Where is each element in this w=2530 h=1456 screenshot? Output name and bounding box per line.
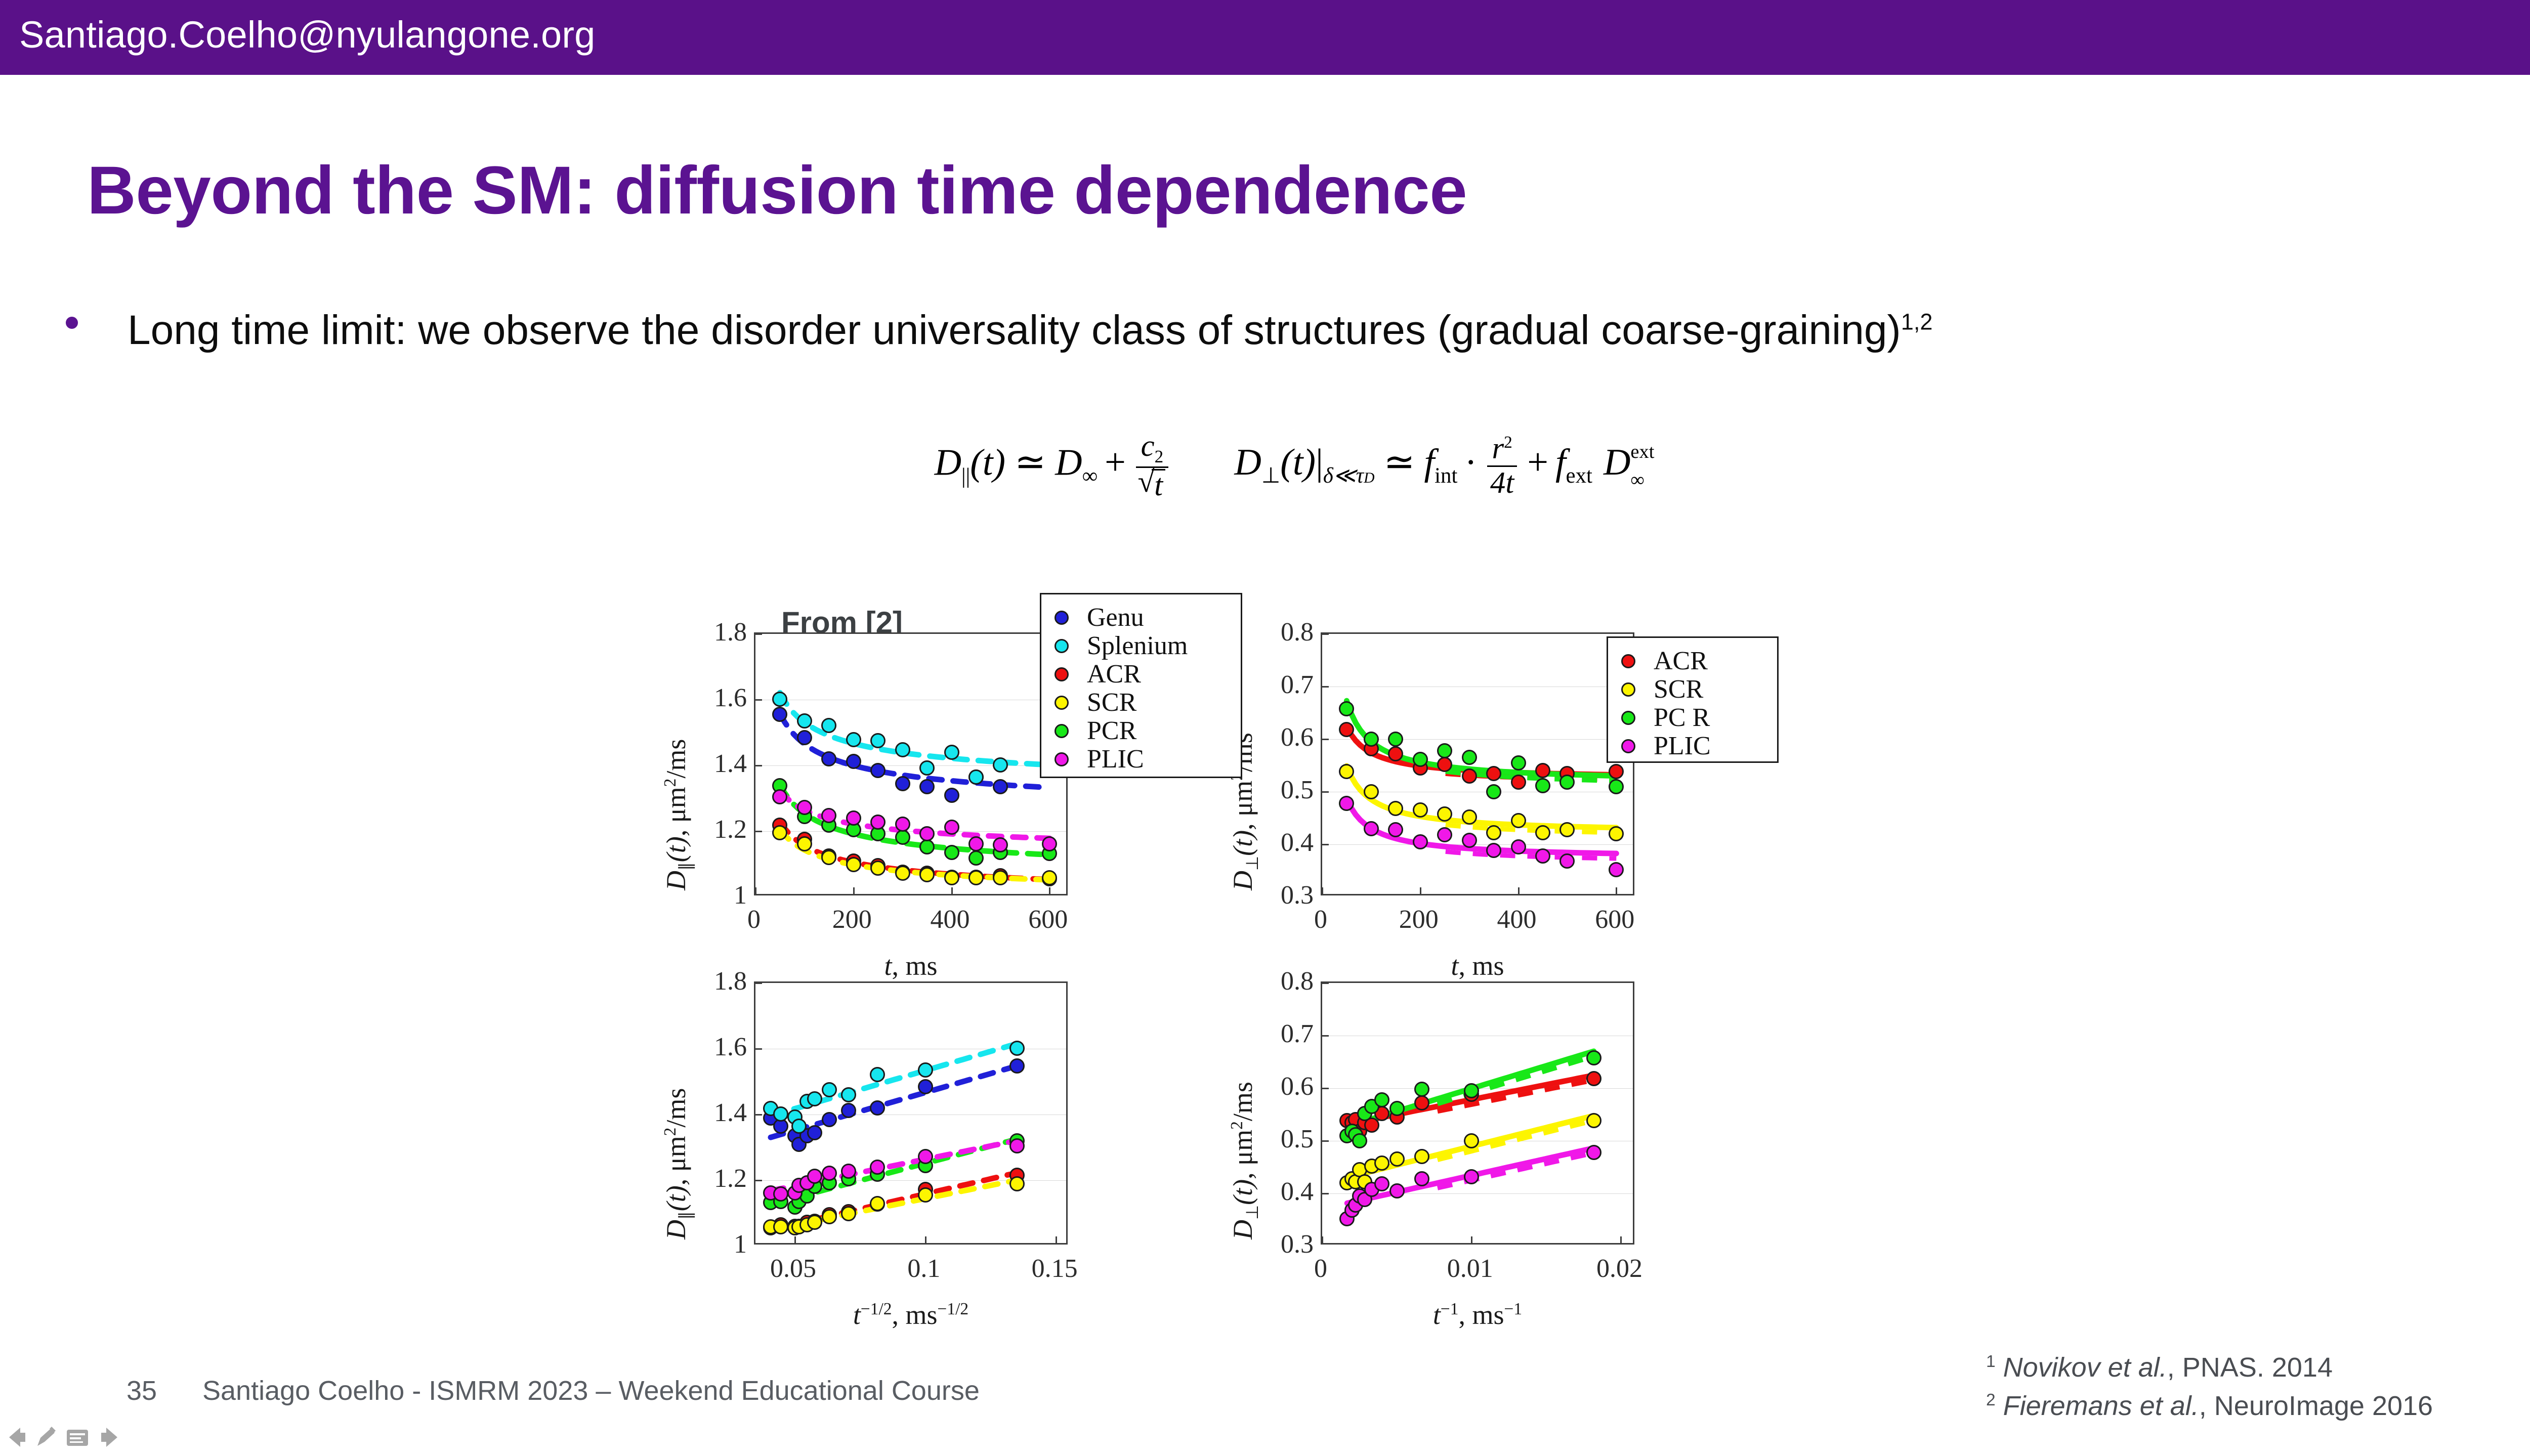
fit-line-pcr [780, 785, 1049, 855]
chart-panel-top-right: 0.30.40.50.60.70.80200400600t, msD⊥(t), … [1321, 632, 1766, 1027]
y-axis-tick-label: 1.6 [678, 683, 747, 713]
next-slide-arrow-icon [101, 1428, 117, 1447]
data-point-splenium [1009, 1041, 1025, 1056]
footer-page-number: 35 [126, 1375, 157, 1406]
pen-tool-icon [37, 1427, 56, 1446]
data-point-genu [807, 1125, 822, 1140]
eq-perp-D: D [1234, 442, 1261, 483]
data-point-pcr [1374, 1092, 1389, 1107]
plot-area [1321, 632, 1634, 895]
plot-area [754, 981, 1068, 1245]
legend-label: ACR [1087, 659, 1141, 689]
eq-par-frac-den: t [1136, 466, 1168, 501]
legend-label: Splenium [1087, 631, 1188, 661]
x-axis-tick-label: 0 [698, 905, 810, 934]
data-point-genu [797, 730, 812, 745]
legend-label: SCR [1654, 674, 1703, 704]
eq-par-fraction: c2t [1136, 431, 1168, 501]
sqrt-icon: t [1139, 468, 1165, 502]
data-point-plic [1586, 1145, 1601, 1160]
eq-perp-Dext-sup: ext [1630, 442, 1654, 462]
data-point-plic [1464, 1169, 1479, 1184]
x-axis-tick-label: 0.1 [868, 1254, 980, 1283]
data-point-plic [968, 836, 984, 851]
x-axis-tick-label: 0 [1265, 1254, 1376, 1283]
data-point-scr [870, 861, 885, 876]
x-axis-tick-label: 200 [796, 905, 908, 934]
eq-perp-rel: ≃ [1375, 442, 1424, 483]
data-point-splenium [791, 1119, 807, 1134]
reference-item: 1 Novikov et al., PNAS. 2014 [1986, 1352, 2433, 1383]
legend-item: PCR [1041, 717, 1241, 745]
bullet-text-main: Long time limit: we observe the disorder… [128, 307, 1901, 353]
data-point-splenium [993, 757, 1008, 773]
data-point-genu [846, 754, 861, 769]
previous-slide-arrow-icon [9, 1428, 25, 1447]
x-axis-tick-label: 400 [1461, 905, 1573, 934]
data-point-plic [821, 808, 836, 823]
data-point-plic [1511, 839, 1526, 854]
eq-perp-Dext: D [1592, 442, 1630, 483]
y-axis-tick-label: 1.8 [678, 617, 747, 647]
data-point-acr [1462, 768, 1477, 784]
figure-grid: 11.21.41.61.80200400600t, msD∥(t), μm2/m… [724, 582, 1781, 1341]
eq-par-rel: ≃ [1005, 442, 1055, 483]
eq-perp-frac-den: 4t [1487, 465, 1517, 499]
data-point-pcr [895, 830, 910, 845]
data-point-plic [1609, 862, 1624, 877]
ref-authors-1: Novikov et al. [2003, 1352, 2167, 1383]
bullet-dot-icon [66, 317, 78, 329]
eq-par-arg: (t) [970, 442, 1005, 483]
data-point-genu [870, 763, 885, 778]
legend-swatch-splenium [1055, 639, 1069, 653]
data-point-scr [1364, 784, 1379, 799]
legend-swatch-plic [1055, 752, 1069, 766]
plot-area [754, 632, 1068, 895]
reference-list: 1 Novikov et al., PNAS. 2014 2 Fieremans… [1986, 1352, 2433, 1429]
legend-swatch-scr [1055, 696, 1069, 710]
legend-label: PC R [1654, 703, 1710, 733]
data-point-acr [1486, 766, 1501, 781]
data-point-plic [1364, 821, 1379, 836]
legend-swatch-pcr [1055, 724, 1069, 738]
eq-perp-Dext-scripts: ext∞ [1630, 442, 1654, 490]
legend-item: PLIC [1608, 732, 1777, 760]
data-point-pcr [1486, 784, 1501, 799]
ref-marker-1: 1 [1986, 1352, 1996, 1371]
legend-swatch-scr [1621, 682, 1635, 697]
data-point-splenium [821, 718, 836, 733]
y-axis-tick-label: 0.7 [1245, 670, 1314, 700]
x-axis-tick-label: 600 [1559, 905, 1670, 934]
data-point-splenium [895, 742, 910, 757]
chart-legend: ACRSCRPC RPLIC [1607, 636, 1779, 763]
chart-panel-bottom-left: 11.21.41.61.80.050.10.15t−1/2, ms−1/2D∥(… [754, 981, 1199, 1376]
data-point-scr [1389, 1151, 1405, 1167]
eq-par-sub: || [961, 464, 970, 488]
footer-text: Santiago Coelho - ISMRM 2023 – Weekend E… [202, 1375, 980, 1406]
data-point-scr [797, 836, 812, 851]
fit-line-dashed-acr [1438, 1080, 1594, 1111]
data-point-splenium [772, 692, 787, 707]
eq-par-D: D [935, 442, 961, 483]
data-point-scr [919, 867, 935, 882]
header-email-text: Santiago.Coelho@nyulangone.org [19, 13, 596, 56]
data-point-scr [944, 870, 959, 885]
x-axis-tick-label: 0.05 [738, 1254, 849, 1283]
x-axis-tick-label: 0.02 [1564, 1254, 1675, 1283]
x-axis-title: t, ms [754, 950, 1068, 981]
data-point-genu [1009, 1058, 1025, 1074]
legend-item: ACR [1608, 647, 1777, 675]
data-point-splenium [918, 1062, 933, 1078]
data-point-genu [870, 1100, 885, 1116]
data-point-scr [895, 866, 910, 881]
y-axis-tick-label: 0.8 [1245, 617, 1314, 647]
legend-item: SCR [1608, 675, 1777, 704]
data-point-acr [1511, 775, 1526, 790]
data-point-plic [1009, 1138, 1025, 1153]
data-point-plic [1389, 1183, 1405, 1198]
eq-perp-frac-num: r2 [1487, 434, 1517, 465]
data-point-pcr [1389, 1101, 1405, 1116]
y-axis-tick-label: 1.6 [678, 1032, 747, 1062]
eq-par-inf-sub: ∞ [1082, 464, 1098, 488]
eq-perp-cond-sub: D [1364, 470, 1374, 486]
legend-item: Splenium [1041, 632, 1241, 660]
data-point-scr [1486, 825, 1501, 840]
data-point-scr [870, 1196, 885, 1211]
equation-perpendicular: D⊥(t)|δ≪τD≃fint·r24t+fextDext∞ [1234, 434, 1654, 498]
eq-par-Dinf: D [1055, 442, 1082, 483]
x-axis-title: t, ms [1321, 950, 1634, 981]
data-point-scr [1437, 806, 1452, 822]
eq-perp-fext-sub: ext [1566, 464, 1592, 488]
eq-perp-Dext-sub: ∞ [1630, 470, 1654, 490]
data-point-splenium [797, 713, 812, 729]
fit-curves [755, 634, 1068, 895]
data-point-scr [1462, 809, 1477, 825]
legend-item: PC R [1608, 704, 1777, 732]
data-point-plic [870, 1160, 885, 1175]
legend-swatch-genu [1055, 611, 1069, 625]
legend-item: Genu [1041, 604, 1241, 632]
data-point-genu [944, 788, 959, 803]
legend-item: SCR [1041, 689, 1241, 717]
data-point-pcr [1511, 755, 1526, 770]
data-point-plic [1414, 1171, 1429, 1186]
data-point-scr [1535, 825, 1550, 840]
x-axis-tick-label: 0 [1265, 905, 1376, 934]
eq-perp-plus: + [1520, 442, 1555, 483]
eq-perp-bar: | [1316, 442, 1323, 483]
ref-authors-2: Fieremans et al. [2003, 1391, 2199, 1421]
data-point-pcr [1609, 779, 1624, 794]
y-axis-title: D∥(t), μm2/ms [660, 739, 696, 890]
data-point-acr [1437, 757, 1452, 772]
legend-swatch-acr [1621, 654, 1635, 668]
data-point-pcr [1352, 1133, 1367, 1148]
eq-perp-arg: (t) [1280, 442, 1316, 483]
data-point-plic [1462, 833, 1477, 848]
notes-panel-icon [67, 1430, 88, 1446]
data-point-scr [1511, 813, 1526, 828]
eq-par-c-sub: 2 [1155, 447, 1164, 466]
data-point-plic [1042, 836, 1057, 851]
data-point-pcr [1586, 1050, 1601, 1065]
legend-item: PLIC [1041, 745, 1241, 774]
fit-line-dashed-plic [1438, 1153, 1594, 1188]
ref-rest-1: , PNAS. 2014 [2167, 1352, 2333, 1383]
y-axis-tick-label: 0.8 [1245, 966, 1314, 996]
y-axis-title: D⊥(t), μm2/ms [1227, 1082, 1262, 1239]
eq-perp-fint: f [1424, 442, 1435, 483]
data-point-scr [1374, 1155, 1389, 1171]
x-axis-tick-label: 0.01 [1414, 1254, 1526, 1283]
y-axis-tick-label: 1.8 [678, 966, 747, 996]
ref-rest-2: , NeuroImage 2016 [2199, 1391, 2433, 1421]
data-point-pcr [1535, 778, 1550, 793]
data-point-plic [895, 817, 910, 832]
data-point-splenium [807, 1091, 822, 1106]
data-point-plic [870, 815, 885, 830]
x-axis-tick-label: 0.15 [999, 1254, 1110, 1283]
data-point-genu [918, 1079, 933, 1094]
data-point-splenium [968, 769, 984, 785]
eq-perp-fext: f [1555, 442, 1566, 483]
plot-area [1321, 981, 1634, 1245]
fit-line-pcr [1346, 701, 1616, 776]
data-point-plic [1413, 834, 1428, 849]
ref-marker-2: 2 [1986, 1391, 1996, 1409]
page-title: Beyond the SM: diffusion time dependence [87, 152, 1467, 229]
data-point-acr [1586, 1071, 1601, 1086]
eq-par-plus: + [1098, 442, 1133, 483]
data-point-splenium [870, 1067, 885, 1082]
data-point-splenium [846, 732, 861, 747]
eq-perp-r: r [1492, 432, 1504, 465]
fit-line-plic [780, 790, 1049, 838]
data-point-plic [944, 820, 959, 835]
bullet-text: Long time limit: we observe the disorder… [128, 303, 2202, 358]
x-axis-tick-label: 600 [992, 905, 1104, 934]
legend-label: SCR [1087, 688, 1136, 717]
chart-legend: GenuSpleniumACRSCRPCRPLIC [1040, 593, 1242, 778]
data-point-pcr [1414, 1082, 1429, 1097]
data-point-plic [772, 789, 787, 804]
equation-parallel: D||(t)≃D∞+c2t [935, 431, 1171, 501]
data-point-genu [822, 1112, 837, 1127]
data-point-splenium [944, 745, 959, 760]
eq-perp-dot: · [1457, 442, 1484, 483]
eq-perp-fint-sub: int [1435, 464, 1457, 488]
legend-swatch-plic [1621, 739, 1635, 753]
y-axis-tick-label: 0.7 [1245, 1019, 1314, 1049]
data-point-pcr [1462, 750, 1477, 765]
data-point-pcr [1339, 701, 1354, 716]
fit-curves [1322, 634, 1634, 895]
eq-par-t: t [1152, 469, 1165, 501]
data-point-plic [846, 810, 861, 826]
eq-par-frac-num: c2 [1136, 431, 1168, 466]
legend-label: PLIC [1087, 744, 1144, 774]
legend-item: ACR [1041, 660, 1241, 689]
chart-panel-top-left: 11.21.41.61.80200400600t, msD∥(t), μm2/m… [754, 632, 1199, 1027]
fit-line-genu [780, 713, 1049, 788]
data-point-genu [895, 776, 910, 791]
x-axis-title: t−1, ms−1 [1321, 1299, 1634, 1331]
eq-perp-fraction: r24t [1487, 434, 1517, 498]
legend-label: Genu [1087, 603, 1144, 632]
reference-item: 2 Fieremans et al., NeuroImage 2016 [1986, 1390, 2433, 1422]
data-point-acr [1414, 1095, 1429, 1110]
data-point-scr [918, 1187, 933, 1203]
data-point-plic [918, 1149, 933, 1164]
data-point-pcr [944, 845, 959, 860]
eq-perp-r-sup: 2 [1504, 433, 1512, 452]
data-point-pcr [1437, 743, 1452, 758]
data-point-plic [797, 800, 812, 815]
data-point-plic [1535, 848, 1550, 864]
legend-label: PLIC [1654, 731, 1711, 761]
data-point-splenium [773, 1106, 788, 1122]
eq-par-c: c [1141, 429, 1155, 463]
data-point-scr [822, 1209, 837, 1224]
data-point-pcr [1413, 752, 1428, 767]
data-point-scr [846, 857, 861, 872]
equation-row: D||(t)≃D∞+c2t D⊥(t)|δ≪τD≃fint·r24t+fextD… [0, 431, 2530, 501]
data-point-scr [1413, 802, 1428, 818]
legend-label: ACR [1654, 646, 1708, 676]
bullet-superscript: 1,2 [1901, 309, 1933, 335]
legend-swatch-acr [1055, 667, 1069, 681]
x-axis-tick-label: 200 [1363, 905, 1474, 934]
x-axis-title: t−1/2, ms−1/2 [754, 1299, 1068, 1331]
data-point-splenium [822, 1082, 837, 1097]
eq-perp-cond: δ≪τ [1323, 464, 1364, 488]
data-point-pcr [1364, 732, 1379, 747]
eq-perp-sub: ⊥ [1261, 464, 1280, 488]
chart-panel-bottom-right: 0.30.40.50.60.70.800.010.02t−1, ms−1D⊥(t… [1321, 981, 1766, 1376]
y-axis-title: D∥(t), μm2/ms [660, 1088, 696, 1239]
legend-label: PCR [1087, 716, 1136, 746]
data-point-plic [1388, 822, 1403, 837]
data-point-plic [822, 1166, 837, 1181]
data-point-scr [1009, 1176, 1025, 1191]
x-axis-tick-label: 400 [895, 905, 1006, 934]
legend-swatch-pcr [1621, 711, 1635, 725]
data-point-scr [1414, 1149, 1429, 1164]
presenter-nav-bar [7, 1423, 123, 1452]
